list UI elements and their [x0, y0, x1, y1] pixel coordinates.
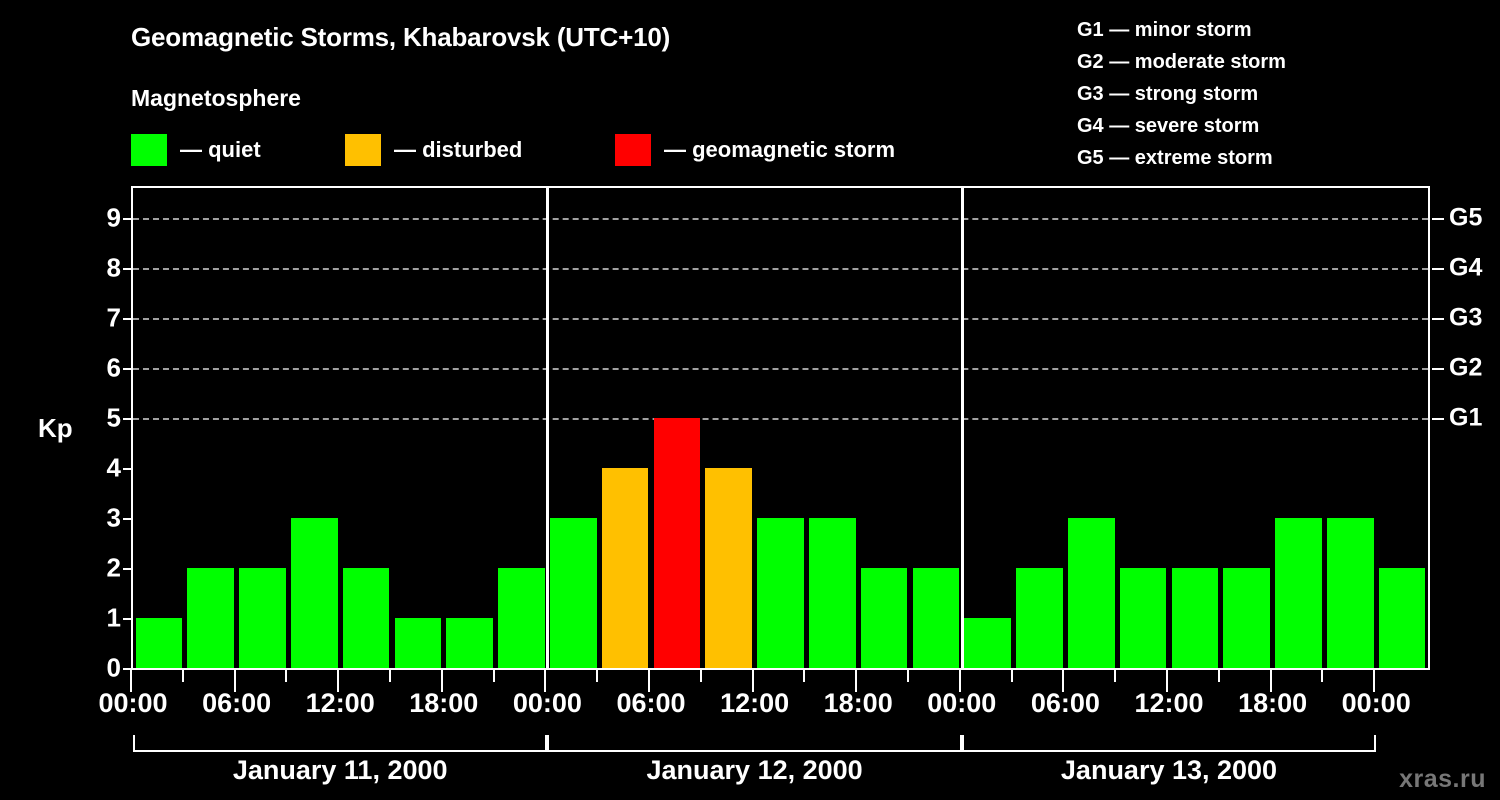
legend-item-green: — quiet	[131, 133, 261, 167]
bar-kp-17	[1016, 568, 1063, 668]
y-axis: 0123456789	[91, 186, 121, 670]
x-tick-minor-3	[182, 670, 184, 682]
x-tick-minor-15	[389, 670, 391, 682]
x-tick-minor-51	[1011, 670, 1013, 682]
g-legend-line-1: G1 — minor storm	[1077, 14, 1286, 46]
x-tick-minor-39	[803, 670, 805, 682]
red-swatch	[615, 134, 651, 166]
bar-kp-13	[809, 518, 856, 668]
x-tick-label-3: 18:00	[409, 688, 478, 719]
y-tick-label-4: 4	[91, 453, 121, 484]
g-legend-line-4: G4 — severe storm	[1077, 110, 1286, 142]
page-title: Geomagnetic Storms, Khabarovsk (UTC+10)	[131, 22, 670, 53]
date-label-1: January 11, 2000	[233, 755, 448, 786]
bar-kp-18	[1068, 518, 1115, 668]
date-label-2: January 12, 2000	[647, 755, 863, 786]
bar-kp-20	[1172, 568, 1219, 668]
g-legend-line-5: G5 — extreme storm	[1077, 142, 1286, 174]
bar-kp-11	[705, 468, 752, 668]
date-bracket-1	[133, 735, 547, 752]
legend-label: — quiet	[180, 137, 261, 163]
g-legend-line-3: G3 — strong storm	[1077, 78, 1286, 110]
x-tick-label-0: 00:00	[98, 688, 167, 719]
bar-kp-24	[1379, 568, 1426, 668]
bar-kp-19	[1120, 568, 1167, 668]
bar-kp-1	[187, 568, 234, 668]
x-tick-minor-21	[493, 670, 495, 682]
g-tick-mark-G1	[1432, 418, 1444, 420]
x-tick-minor-9	[285, 670, 287, 682]
y-tick-label-1: 1	[91, 603, 121, 634]
bar-kp-7	[498, 568, 545, 668]
legend-item-red: — geomagnetic storm	[615, 133, 895, 167]
x-tick-minor-27	[596, 670, 598, 682]
orange-swatch	[345, 134, 381, 166]
x-tick-minor-57	[1114, 670, 1116, 682]
g-tick-mark-G5	[1432, 218, 1444, 220]
bar-kp-0	[136, 618, 183, 668]
bar-kp-8	[550, 518, 597, 668]
bar-kp-23	[1327, 518, 1374, 668]
legend-label: — geomagnetic storm	[664, 137, 895, 163]
x-tick-minor-33	[700, 670, 702, 682]
bar-kp-10	[654, 418, 701, 668]
g-axis-label-G5: G5	[1449, 204, 1482, 233]
y-axis-title: Kp	[38, 413, 73, 444]
legend-label: — disturbed	[394, 137, 522, 163]
y-tick-label-8: 8	[91, 253, 121, 284]
x-tick-minor-63	[1218, 670, 1220, 682]
bar-kp-21	[1223, 568, 1270, 668]
x-tick-label-9: 06:00	[1031, 688, 1100, 719]
g-axis-label-G4: G4	[1449, 254, 1482, 283]
x-tick-label-6: 12:00	[720, 688, 789, 719]
date-bracket-3	[962, 735, 1376, 752]
bar-kp-22	[1275, 518, 1322, 668]
g-scale-legend: G1 — minor stormG2 — moderate stormG3 — …	[1077, 14, 1286, 174]
x-tick-label-12: 00:00	[1342, 688, 1411, 719]
y-tick-label-5: 5	[91, 403, 121, 434]
x-tick-label-8: 00:00	[927, 688, 996, 719]
g-tick-mark-G3	[1432, 318, 1444, 320]
y-tick-label-2: 2	[91, 553, 121, 584]
x-tick-minor-45	[907, 670, 909, 682]
g-scale-axis: G5G4G3G2G1	[1437, 186, 1497, 670]
y-tick-label-3: 3	[91, 503, 121, 534]
bar-kp-3	[291, 518, 338, 668]
date-bracket-2	[547, 735, 961, 752]
g-axis-label-G1: G1	[1449, 404, 1482, 433]
bar-kp-16	[964, 618, 1011, 668]
g-axis-label-G3: G3	[1449, 304, 1482, 333]
bar-kp-14	[861, 568, 908, 668]
bar-kp-9	[602, 468, 649, 668]
x-tick-label-2: 12:00	[306, 688, 375, 719]
y-tick-label-9: 9	[91, 203, 121, 234]
x-tick-label-1: 06:00	[202, 688, 271, 719]
bar-kp-15	[913, 568, 960, 668]
green-swatch	[131, 134, 167, 166]
plot-area	[131, 186, 1430, 670]
x-tick-label-5: 06:00	[616, 688, 685, 719]
legend-item-orange: — disturbed	[345, 133, 522, 167]
date-label-3: January 13, 2000	[1061, 755, 1277, 786]
g-axis-label-G2: G2	[1449, 354, 1482, 383]
bar-kp-4	[343, 568, 390, 668]
chart-subtitle: Magnetosphere	[131, 85, 301, 112]
g-tick-mark-G4	[1432, 268, 1444, 270]
x-tick-minor-69	[1321, 670, 1323, 682]
bar-kp-5	[395, 618, 442, 668]
watermark: xras.ru	[1399, 765, 1486, 794]
y-tick-label-0: 0	[91, 653, 121, 684]
g-tick-mark-G2	[1432, 368, 1444, 370]
bar-kp-2	[239, 568, 286, 668]
y-tick-label-6: 6	[91, 353, 121, 384]
bar-kp-12	[757, 518, 804, 668]
y-tick-label-7: 7	[91, 303, 121, 334]
x-tick-label-7: 18:00	[824, 688, 893, 719]
x-tick-label-11: 18:00	[1238, 688, 1307, 719]
x-tick-label-10: 12:00	[1134, 688, 1203, 719]
g-legend-line-2: G2 — moderate storm	[1077, 46, 1286, 78]
x-tick-label-4: 00:00	[513, 688, 582, 719]
bar-kp-6	[446, 618, 493, 668]
bars-layer	[133, 188, 1428, 668]
